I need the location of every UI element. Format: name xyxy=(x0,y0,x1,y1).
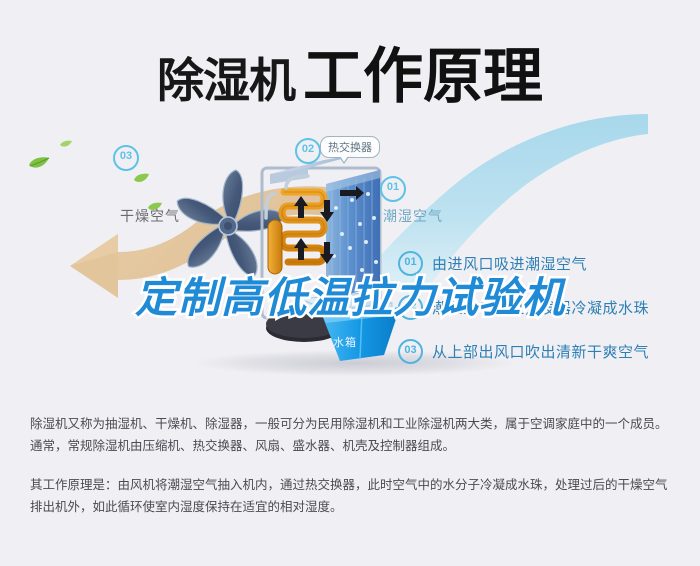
page-title-prefix: 除湿机 xyxy=(157,54,295,107)
leaf-icon xyxy=(28,156,50,170)
list-item: 03 从上部出风口吹出清新干爽空气 xyxy=(398,340,688,362)
description-section: 除湿机又称为抽湿机、干燥机、除湿器，一般可分为民用除湿机和工业除湿机两大类，属于… xyxy=(30,413,670,535)
dehumidifier-infographic: 除湿机工作原理 xyxy=(0,0,700,566)
diagram-badge-01: 01 xyxy=(380,176,406,202)
water-tank-label: 水箱 xyxy=(333,334,357,350)
diagram-badge-03: 03 xyxy=(113,145,139,171)
step-badge-03: 03 xyxy=(398,339,423,364)
heat-exchanger-callout: 热交换器 xyxy=(320,136,380,158)
watermark-text: 定制高低温拉力试验机 xyxy=(135,264,565,325)
leaf-icon xyxy=(60,140,73,149)
humid-air-label: 潮湿空气 xyxy=(383,206,443,226)
dry-air-label: 干燥空气 xyxy=(120,206,180,226)
page-title-main: 工作原理 xyxy=(303,43,543,110)
page-title: 除湿机工作原理 xyxy=(0,28,700,115)
paragraph-1: 除湿机又称为抽湿机、干燥机、除湿器，一般可分为民用除湿机和工业除湿机两大类，属于… xyxy=(30,413,670,457)
paragraph-2: 其工作原理是：由风机将潮湿空气抽入机内，通过热交换器，此时空气中的水分子冷凝成水… xyxy=(30,474,670,518)
diagram-badge-02: 02 xyxy=(295,138,321,164)
step-text-03: 从上部出风口吹出清新干爽空气 xyxy=(432,341,649,362)
leaf-icon xyxy=(133,173,150,184)
watermark-overlay: 定制高低温拉力试验机 xyxy=(0,264,700,325)
